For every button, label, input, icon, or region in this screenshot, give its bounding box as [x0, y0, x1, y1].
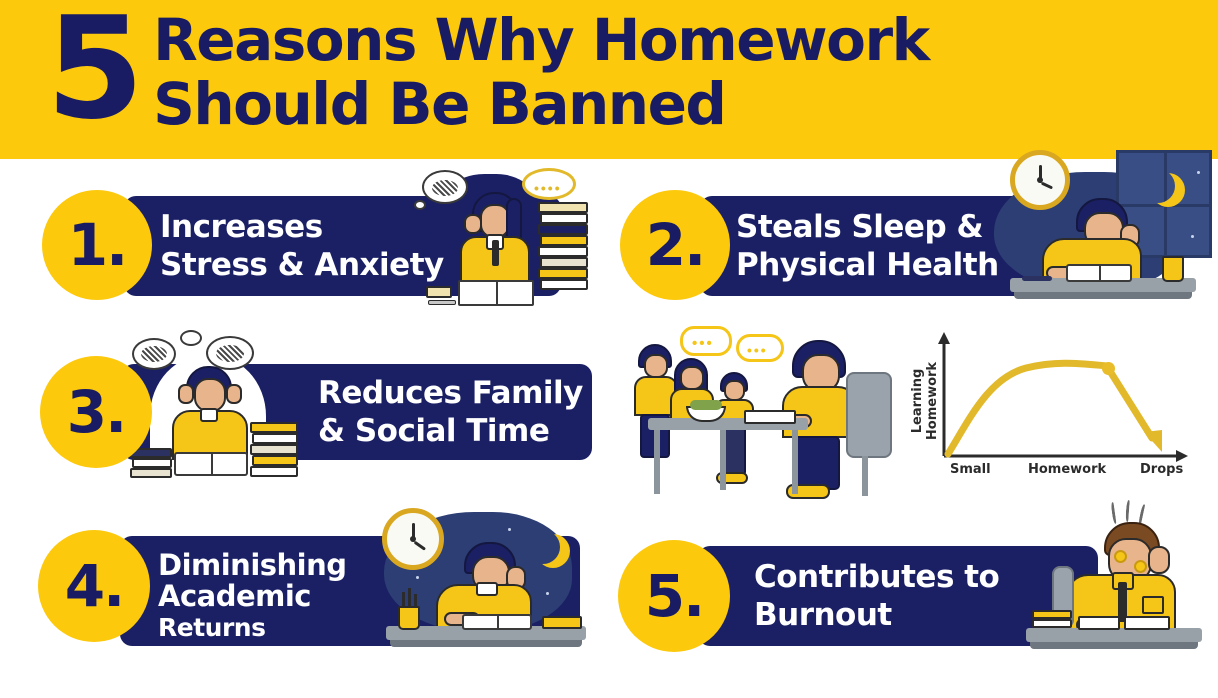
glowing-eye-icon	[1134, 560, 1147, 573]
steam-icon	[1110, 502, 1117, 524]
reason-3-number: 3.	[67, 378, 125, 446]
reason-5-number-circle: 5.	[618, 540, 730, 652]
family-dinner-while-doing-homework-illustration: ••• •••	[616, 326, 900, 508]
header-band: 5 Reasons Why Homework Should Be Banned	[0, 0, 1218, 159]
reason-3-number-circle: 3.	[40, 356, 152, 468]
chart-x-tick-2: Drops	[1140, 462, 1183, 477]
sleeping-student-at-night-desk-illustration	[980, 146, 1218, 306]
wall-clock-icon	[1010, 150, 1070, 210]
reason-5-line-2: Burnout	[754, 596, 999, 634]
overwhelmed-student-with-book-stacks-illustration	[126, 330, 316, 480]
cup-icon	[1162, 256, 1184, 282]
reason-2-number-circle: 2.	[620, 190, 730, 300]
reason-1-number: 1.	[68, 211, 126, 279]
reason-1-line-1: Increases	[160, 208, 444, 246]
chart-peak-point	[1102, 362, 1115, 375]
header-big-number: 5	[46, 0, 139, 139]
reason-3-text: Reduces Family & Social Time	[318, 374, 583, 450]
header-title-lines: Reasons Why Homework Should Be Banned	[153, 8, 929, 136]
pencil-cup-icon	[398, 606, 420, 630]
chart-x-tick-1: Homework	[1028, 462, 1106, 477]
page-title-line-1: Reasons Why Homework	[153, 8, 929, 72]
book-stack	[130, 448, 172, 478]
reason-4-line-1: Diminishing	[158, 550, 347, 581]
header-title-group: 5 Reasons Why Homework Should Be Banned	[46, 2, 929, 139]
reason-2-line-2: Physical Health	[736, 246, 999, 284]
reason-1-text: Increases Stress & Anxiety	[160, 208, 444, 284]
speech-bubble-dots: •••	[692, 335, 714, 352]
steam-icon	[1125, 500, 1131, 522]
burnout-person-at-desk-illustration	[1016, 500, 1206, 652]
reason-2-number: 2.	[646, 211, 704, 279]
reason-5-number: 5.	[645, 562, 703, 630]
glowing-eye-icon	[1114, 550, 1127, 563]
reason-4-line-2: Academic	[158, 581, 347, 612]
moon-icon	[1141, 169, 1175, 203]
learning-vs-homework-chart: Learning Homework Small Homework Drops	[896, 326, 1202, 486]
reason-4-line-3: Returns	[158, 612, 347, 643]
reason-2-line-1: Steals Sleep &	[736, 208, 999, 246]
book-stack	[250, 422, 298, 478]
reason-3-line-2: & Social Time	[318, 412, 583, 450]
reason-1-number-circle: 1.	[42, 190, 152, 300]
reason-2-text: Steals Sleep & Physical Health	[736, 208, 999, 284]
chart-x-tick-0: Small	[950, 462, 991, 477]
reason-5-text: Contributes to Burnout	[754, 558, 999, 634]
speech-bubble-dots-2: •••	[747, 342, 768, 358]
reason-3-line-1: Reduces Family	[318, 374, 583, 412]
reason-4-number-circle: 4.	[38, 530, 150, 642]
moon-icon	[526, 530, 560, 564]
page-title-line-2: Should Be Banned	[153, 72, 929, 136]
reason-4-number: 4.	[65, 552, 123, 620]
reason-5-line-1: Contributes to	[754, 558, 999, 596]
reason-4-text: Diminishing Academic Returns	[158, 550, 347, 643]
wall-clock-icon	[382, 508, 444, 570]
reason-1-line-2: Stress & Anxiety	[160, 246, 444, 284]
tired-student-writing-at-night-illustration	[360, 502, 590, 652]
book-stack	[538, 202, 588, 290]
infographic-canvas: 5 Reasons Why Homework Should Be Banned …	[0, 0, 1218, 698]
